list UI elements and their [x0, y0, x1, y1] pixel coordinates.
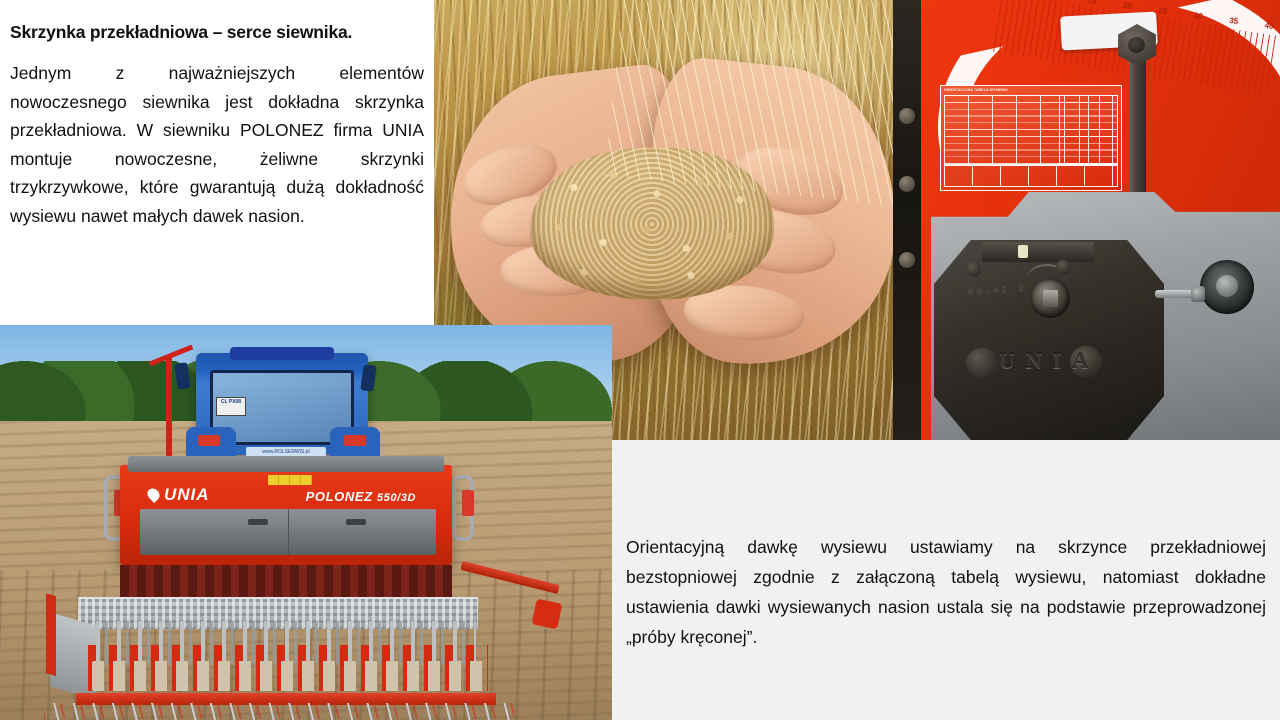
- unia-emboss-text: UNIA: [934, 348, 1164, 374]
- harrow-tine-mounts: [44, 703, 514, 719]
- gearbox-input-shaft: [1030, 278, 1070, 318]
- tractor-roof: [230, 347, 334, 360]
- bolt: [1056, 260, 1071, 275]
- press-wheels: [92, 661, 484, 691]
- scale-value: 10: [1050, 0, 1062, 14]
- linkage-rod: [1155, 290, 1199, 298]
- seed-tube-row: [120, 565, 452, 601]
- slide-canvas: Skrzynka przekładniowa – serce siewnika.…: [0, 0, 1280, 720]
- hopper-grey-cover: [140, 509, 436, 555]
- scale-value: 30: [1191, 11, 1203, 34]
- unia-brand-text: UNIA: [164, 485, 210, 504]
- hitch-coupling: [532, 599, 563, 630]
- bolt: [899, 252, 915, 268]
- text-panel-left: Skrzynka przekładniowa – serce siewnika.…: [0, 0, 434, 325]
- scale-value: 5: [1019, 0, 1026, 9]
- sowing-table-grid-right: [1059, 95, 1118, 165]
- model-size: 550/3D: [377, 492, 416, 504]
- unia-brand-logo: UNIA: [148, 485, 210, 505]
- bolt: [899, 176, 915, 192]
- scale-value: 25: [1156, 6, 1168, 29]
- tractor-taillight: [344, 435, 366, 446]
- shaft-port: [1200, 260, 1254, 314]
- warning-sticker: [268, 475, 312, 485]
- sowing-table-title: ORIENTACYJNA TABELA WYSIEWU: [944, 88, 1008, 92]
- tractor-taillight: [198, 435, 220, 446]
- license-plate: CL PX08: [216, 397, 246, 416]
- model-badge: POLONEZ 550/3D: [306, 489, 416, 504]
- background-shadow-strip: [893, 0, 921, 440]
- seed-hopper: UNIA POLONEZ 550/3D: [120, 465, 452, 565]
- photo-seeder: CL PX08 www.ROLSERWIS.pl UNIA POLONEZ 55…: [0, 325, 612, 720]
- cover-handle: [248, 519, 268, 525]
- intro-paragraph: Jednym z najważniejszych elementów nowoc…: [10, 59, 424, 230]
- rear-reflector: [462, 490, 474, 516]
- marker-arm: [166, 355, 172, 465]
- sowing-rate-paragraph: Orientacyjną dawkę wysiewu ustawiamy na …: [626, 532, 1266, 652]
- bolt: [966, 262, 981, 277]
- scale-value: 35: [1227, 16, 1239, 39]
- photo-gearbox: 0 5 10 15 20 25 30 35 40 ORIENTACYJNA TA…: [893, 0, 1280, 440]
- gearbox-top-cap: [982, 242, 1094, 262]
- cover-handle: [346, 519, 366, 525]
- model-name: POLONEZ: [306, 489, 373, 504]
- page-title: Skrzynka przekładniowa – serce siewnika.: [10, 22, 424, 43]
- cast-iron-gearbox: 08-42 2 UNIA: [934, 240, 1164, 440]
- bolt: [899, 108, 915, 124]
- sowing-table-icon-row: [944, 165, 1118, 187]
- wheat-awns: [604, 0, 893, 211]
- unia-drop-icon: [145, 486, 162, 503]
- hopper-lid: [128, 456, 444, 472]
- sowing-table-plate: ORIENTACYJNA TABELA WYSIEWU: [940, 85, 1122, 191]
- casting-code: 08-42 2: [968, 284, 1027, 298]
- scale-value: 0: [988, 0, 995, 5]
- text-panel-right: Orientacyjną dawkę wysiewu ustawiamy na …: [612, 440, 1280, 720]
